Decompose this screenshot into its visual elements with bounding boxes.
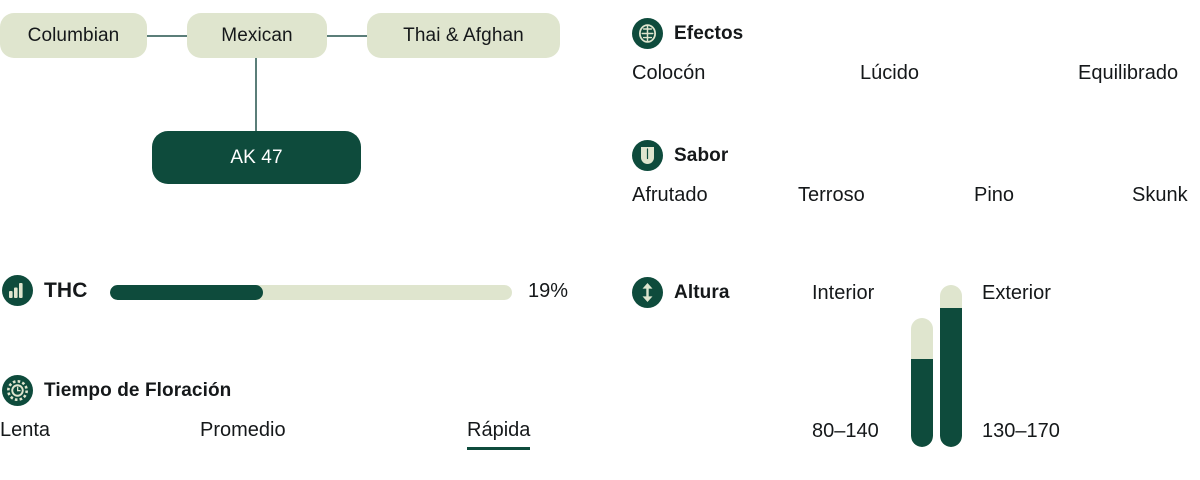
altura-outdoor-label: Exterior (982, 282, 1051, 305)
flowering-time-header: Tiempo de Floración (2, 375, 231, 406)
altura-indoor-label: Interior (812, 282, 874, 305)
sabor-section: Sabor Afrutado Terroso Pino Skunk (632, 140, 1200, 230)
lineage-connector-down (255, 58, 257, 133)
lineage-parent-columbian[interactable]: Columbian (0, 13, 147, 58)
thc-title: THC (44, 279, 87, 303)
sabor-title: Sabor (674, 145, 728, 167)
thc-progress-fill (110, 285, 263, 300)
sabor-header: Sabor (632, 140, 728, 171)
altura-indoor-value: 80–140 (812, 420, 879, 443)
lineage-parent-thai-afghan[interactable]: Thai & Afghan (367, 13, 560, 58)
clock-icon (2, 375, 33, 406)
lineage-strain-ak47[interactable]: AK 47 (152, 131, 361, 184)
bar-chart-icon (2, 275, 33, 306)
flowering-time-title: Tiempo de Floración (44, 380, 231, 402)
lineage-parent-mexican[interactable]: Mexican (187, 13, 327, 58)
efectos-title: Efectos (674, 23, 743, 45)
altura-header: Altura (632, 277, 730, 308)
efecto-item[interactable]: Equilibrado (1078, 62, 1178, 85)
altura-title: Altura (674, 282, 730, 304)
brain-icon (632, 18, 663, 49)
lineage-connector-left (147, 35, 187, 37)
height-arrows-icon (632, 277, 663, 308)
lineage-connector-right (327, 35, 367, 37)
thc-progress-track[interactable] (110, 285, 512, 300)
efecto-item[interactable]: Colocón (632, 62, 705, 85)
altura-section: Altura Interior Exterior 80–140 130–170 (632, 277, 1200, 457)
sabor-item[interactable]: Skunk (1132, 184, 1188, 207)
tongue-icon (632, 140, 663, 171)
flowering-time-section: Tiempo de Floración Lenta Promedio Rápid… (0, 375, 600, 455)
sabor-item[interactable]: Afrutado (632, 184, 708, 207)
altura-indoor-bar[interactable] (911, 318, 933, 447)
genetics-lineage: Columbian Mexican Thai & Afghan AK 47 (0, 0, 600, 200)
sabor-item[interactable]: Terroso (798, 184, 865, 207)
efectos-header: Efectos (632, 18, 743, 49)
thc-section: THC 19% (0, 272, 600, 318)
altura-outdoor-bar[interactable] (940, 285, 962, 447)
flowering-option-promedio[interactable]: Promedio (200, 419, 286, 447)
flowering-option-lenta[interactable]: Lenta (0, 419, 50, 447)
efectos-section: Efectos Colocón Lúcido Equilibrado (632, 18, 1200, 108)
efecto-item[interactable]: Lúcido (860, 62, 919, 85)
flowering-option-rapida[interactable]: Rápida (467, 419, 530, 450)
altura-outdoor-bar-fill (940, 308, 962, 447)
sabor-item[interactable]: Pino (974, 184, 1014, 207)
lineage-parent-label: Columbian (28, 25, 120, 47)
thc-value: 19% (528, 280, 568, 303)
thc-header: THC (2, 275, 87, 306)
flowering-time-options: Lenta Promedio Rápida (0, 419, 560, 453)
altura-indoor-bar-fill (911, 359, 933, 447)
lineage-parent-label: Mexican (221, 25, 292, 47)
altura-outdoor-value: 130–170 (982, 420, 1060, 443)
lineage-parent-label: Thai & Afghan (403, 25, 524, 47)
lineage-strain-label: AK 47 (230, 147, 282, 169)
